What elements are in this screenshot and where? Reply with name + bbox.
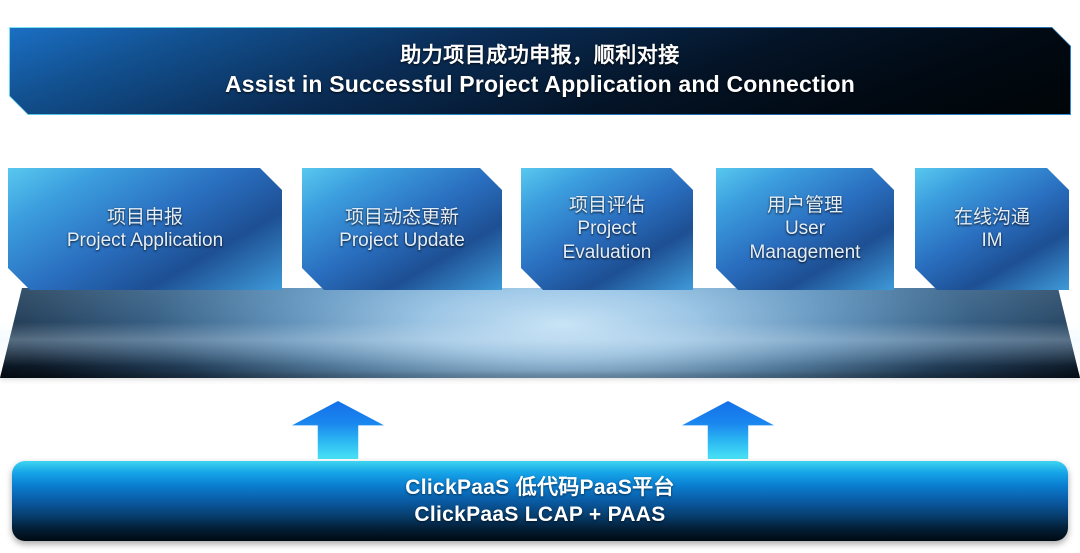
card-text-group: 用户管理 UserManagement bbox=[742, 194, 869, 264]
up-arrow-icon-left bbox=[292, 401, 384, 459]
card-label-en: UserManagement bbox=[750, 217, 861, 263]
card-text-group: 项目申报 Project Application bbox=[59, 206, 231, 252]
capability-card-project-application[interactable]: 项目申报 Project Application bbox=[8, 168, 282, 290]
card-label-en: Project Update bbox=[339, 229, 465, 252]
header-text-group: 助力项目成功申报，顺利对接 Assist in Successful Proje… bbox=[225, 42, 855, 99]
platform-slab-shadow bbox=[0, 374, 1080, 382]
capability-card-im[interactable]: 在线沟通 IM bbox=[915, 168, 1069, 290]
platform-foundation-bar: ClickPaaS 低代码PaaS平台 ClickPaaS LCAP + PAA… bbox=[12, 461, 1068, 541]
platform-bar-title-cn: ClickPaaS 低代码PaaS平台 bbox=[405, 474, 674, 501]
card-label-cn: 项目申报 bbox=[67, 206, 223, 229]
card-label-en: IM bbox=[954, 229, 1030, 252]
platform-slab-surface bbox=[0, 288, 1080, 378]
header-banner: 助力项目成功申报，顺利对接 Assist in Successful Proje… bbox=[10, 28, 1070, 114]
card-text-group: 项目评估 ProjectEvaluation bbox=[555, 194, 660, 264]
capability-card-project-evaluation[interactable]: 项目评估 ProjectEvaluation bbox=[521, 168, 693, 290]
header-title-en: Assist in Successful Project Application… bbox=[225, 70, 855, 100]
card-label-en: ProjectEvaluation bbox=[563, 217, 652, 263]
card-label-cn: 项目动态更新 bbox=[339, 206, 465, 229]
capability-card-user-management[interactable]: 用户管理 UserManagement bbox=[716, 168, 894, 290]
card-text-group: 项目动态更新 Project Update bbox=[331, 206, 473, 252]
platform-bar-text-group: ClickPaaS 低代码PaaS平台 ClickPaaS LCAP + PAA… bbox=[405, 474, 674, 529]
capability-platform-slab bbox=[0, 288, 1080, 378]
platform-bar-title-en: ClickPaaS LCAP + PAAS bbox=[405, 501, 674, 528]
capability-card-project-update[interactable]: 项目动态更新 Project Update bbox=[302, 168, 502, 290]
up-arrow-icon-right bbox=[682, 401, 774, 459]
capability-cards-row: 项目申报 Project Application 项目动态更新 Project … bbox=[0, 168, 1080, 293]
card-text-group: 在线沟通 IM bbox=[946, 206, 1038, 252]
card-label-en: Project Application bbox=[67, 229, 223, 252]
header-title-cn: 助力项目成功申报，顺利对接 bbox=[225, 42, 855, 69]
card-label-cn: 用户管理 bbox=[750, 194, 861, 217]
card-label-cn: 在线沟通 bbox=[954, 206, 1030, 229]
card-label-cn: 项目评估 bbox=[563, 194, 652, 217]
